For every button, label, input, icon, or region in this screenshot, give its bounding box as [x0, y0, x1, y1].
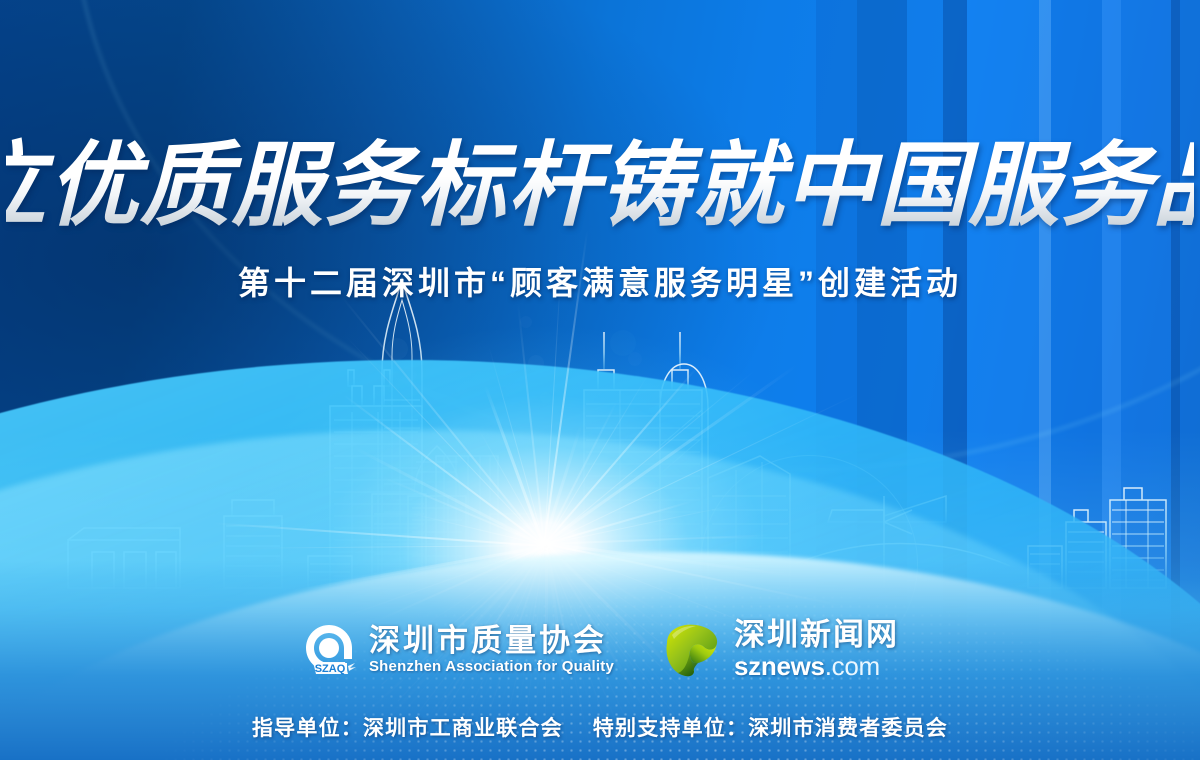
- sznews-domain-tld: .com: [825, 651, 880, 681]
- headline-part-1: 树立优质服务标杆: [0, 140, 600, 232]
- svg-text:SZAQ: SZAQ: [315, 663, 346, 675]
- szaq-logo[interactable]: SZAQ 深圳市质量协会 Shenzhen Association for Qu…: [301, 622, 614, 678]
- sznews-logo-text: 深圳新闻网 sznews.com: [734, 619, 899, 680]
- credits-line: 指导单位：深圳市工商业联合会特别支持单位：深圳市消费者委员会: [0, 712, 1200, 742]
- sznews-domain: sznews.com: [734, 652, 899, 681]
- sznews-name-cn: 深圳新闻网: [734, 619, 899, 652]
- szaq-name-cn: 深圳市质量协会: [369, 625, 614, 658]
- subtitle: 第十二届深圳市“顾客满意服务明星”创建活动: [0, 258, 1200, 304]
- headline-part-2: 铸就中国服务品牌: [600, 140, 1200, 232]
- sznews-logo[interactable]: 深圳新闻网 sznews.com: [660, 619, 899, 680]
- szaq-name-en: Shenzhen Association for Quality: [369, 658, 614, 675]
- promotional-banner: 树立优质服务标杆 铸就中国服务品牌 第十二届深圳市“顾客满意服务明星”创建活动 …: [0, 0, 1200, 760]
- page-title: 树立优质服务标杆 铸就中国服务品牌: [6, 128, 1194, 244]
- support-org: 深圳市消费者委员会: [748, 717, 948, 740]
- szaq-circle-logo-icon: SZAQ: [301, 622, 357, 678]
- guidance-label: 指导单位：: [252, 717, 363, 740]
- szaq-logo-text: 深圳市质量协会 Shenzhen Association for Quality: [369, 625, 614, 675]
- sznews-leaf-logo-icon: [660, 621, 722, 679]
- sponsor-logos: SZAQ 深圳市质量协会 Shenzhen Association for Qu…: [0, 614, 1200, 686]
- sznews-domain-bold: sznews: [734, 651, 825, 681]
- guidance-org: 深圳市工商业联合会: [363, 717, 563, 740]
- support-label: 特别支持单位：: [593, 717, 748, 740]
